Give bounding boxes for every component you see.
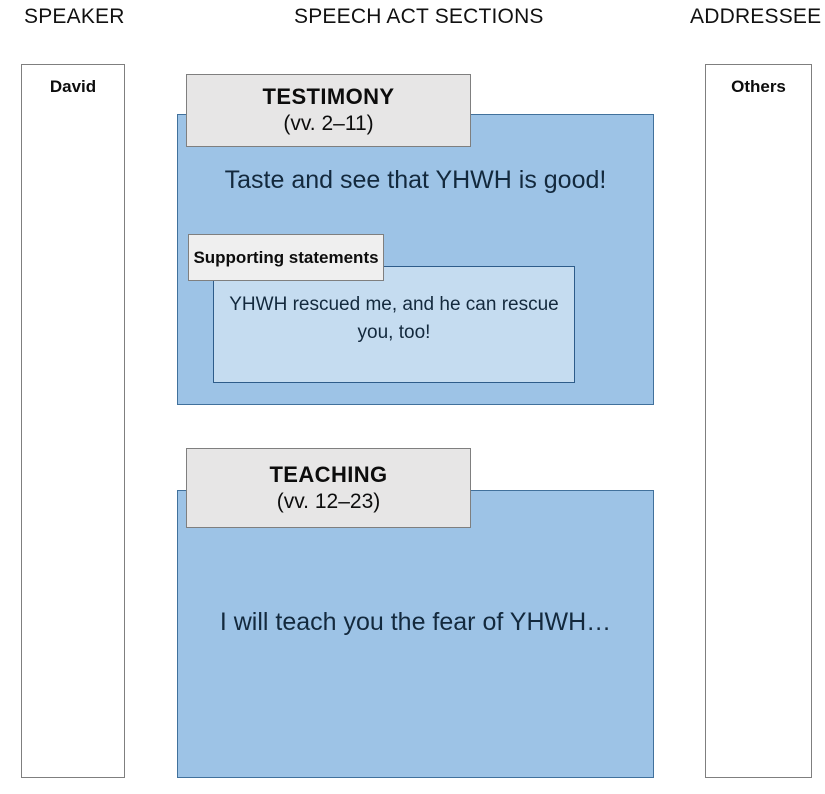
diagram-canvas: SPEAKER SPEECH ACT SECTIONS ADDRESSEE Da… bbox=[0, 0, 825, 794]
section-utterance-teaching: I will teach you the fear of YHWH… bbox=[178, 607, 653, 638]
section-tab-verses-teaching: (vv. 12–23) bbox=[277, 490, 381, 515]
section-utterance-testimony: Taste and see that YHWH is good! bbox=[178, 165, 653, 196]
section-tab-testimony: TESTIMONY (vv. 2–11) bbox=[186, 74, 471, 147]
participant-column-speaker: David bbox=[21, 64, 125, 778]
section-body-teaching: I will teach you the fear of YHWH… bbox=[177, 490, 654, 778]
participant-label-speaker: David bbox=[22, 77, 124, 97]
section-tab-title-testimony: TESTIMONY bbox=[263, 84, 395, 110]
participant-column-addressee: Others bbox=[705, 64, 812, 778]
participant-label-addressee: Others bbox=[706, 77, 811, 97]
column-header-addressee: ADDRESSEE bbox=[690, 6, 821, 27]
section-tab-title-teaching: TEACHING bbox=[269, 462, 387, 488]
section-tab-supporting-statements: Supporting statements bbox=[188, 234, 384, 281]
column-header-speaker: SPEAKER bbox=[24, 6, 125, 27]
subsection-body-supporting-statements: YHWH rescued me, and he can rescue you, … bbox=[213, 266, 575, 383]
section-tab-title-supporting-statements: Supporting statements bbox=[193, 247, 378, 269]
section-tab-teaching: TEACHING (vv. 12–23) bbox=[186, 448, 471, 528]
column-header-speech-act-sections: SPEECH ACT SECTIONS bbox=[294, 6, 544, 27]
subsection-text-supporting-statements: YHWH rescued me, and he can rescue you, … bbox=[224, 291, 564, 346]
section-tab-verses-testimony: (vv. 2–11) bbox=[283, 112, 373, 137]
